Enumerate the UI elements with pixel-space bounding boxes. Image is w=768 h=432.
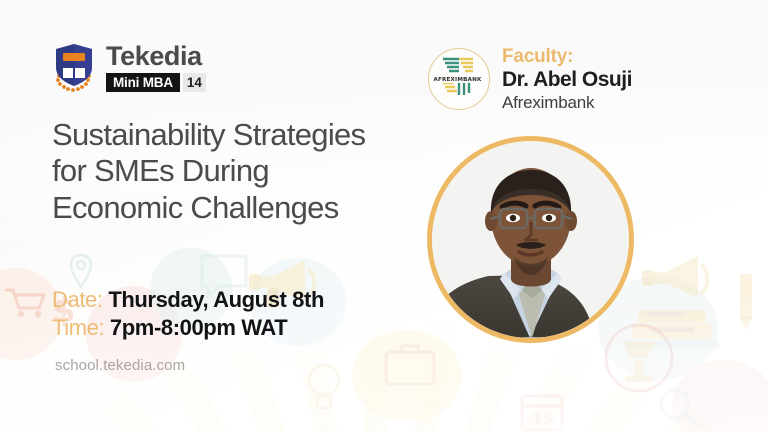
tekedia-brand-block: Tekedia Mini MBA 14 — [52, 42, 206, 92]
afreximbank-logo-text: AFREXIMBANK — [433, 77, 482, 83]
decor-blob-lemon — [352, 330, 462, 422]
date-row: Date: Thursday, August 8th — [52, 286, 324, 314]
faculty-text: Faculty: Dr. Abel Osuji Afreximbank — [502, 46, 632, 112]
megaphone-icon-right — [640, 248, 730, 312]
date-label: Date: — [52, 287, 103, 312]
books-stack-icon — [610, 288, 738, 374]
badge-number: 14 — [183, 73, 206, 92]
mini-mba-badge: Mini MBA 14 — [106, 73, 206, 92]
afreximbank-logo-icon: AFREXIMBANK — [428, 48, 490, 110]
faculty-label: Faculty: — [502, 46, 632, 67]
website-url[interactable]: school.tekedia.com — [55, 357, 185, 374]
shopping-cart-icon — [2, 282, 48, 322]
svg-text:15: 15 — [532, 410, 553, 428]
tekedia-shield-crest-icon — [52, 42, 96, 92]
lightbulb-icon — [300, 356, 348, 418]
search-icon — [652, 382, 708, 432]
pencil-icon — [726, 268, 766, 340]
faculty-organization: Afreximbank — [502, 93, 632, 112]
time-row: Time: 7pm-8:00pm WAT — [52, 314, 324, 342]
brand-text: Tekedia Mini MBA 14 — [106, 43, 206, 92]
calendar-icon: 15 — [516, 388, 568, 432]
time-label: Time: — [52, 315, 104, 340]
decor-blob-rose — [672, 360, 768, 432]
badge-label: Mini MBA — [106, 73, 180, 92]
faculty-name: Dr. Abel Osuji — [502, 68, 632, 92]
briefcase-icon — [380, 336, 440, 390]
faculty-block: AFREXIMBANK Faculty: Dr. Abel Osuji Afre… — [428, 46, 632, 112]
speaker-portrait — [427, 136, 634, 343]
date-value: Thursday, August 8th — [108, 287, 324, 312]
time-value: 7pm-8:00pm WAT — [110, 315, 287, 340]
webinar-flyer: $ — [0, 0, 768, 432]
brand-name: Tekedia — [106, 43, 206, 70]
event-details: Date: Thursday, August 8th Time: 7pm-8:0… — [52, 286, 324, 342]
page-title: Sustainability Strategies for SMEs Durin… — [52, 117, 404, 226]
